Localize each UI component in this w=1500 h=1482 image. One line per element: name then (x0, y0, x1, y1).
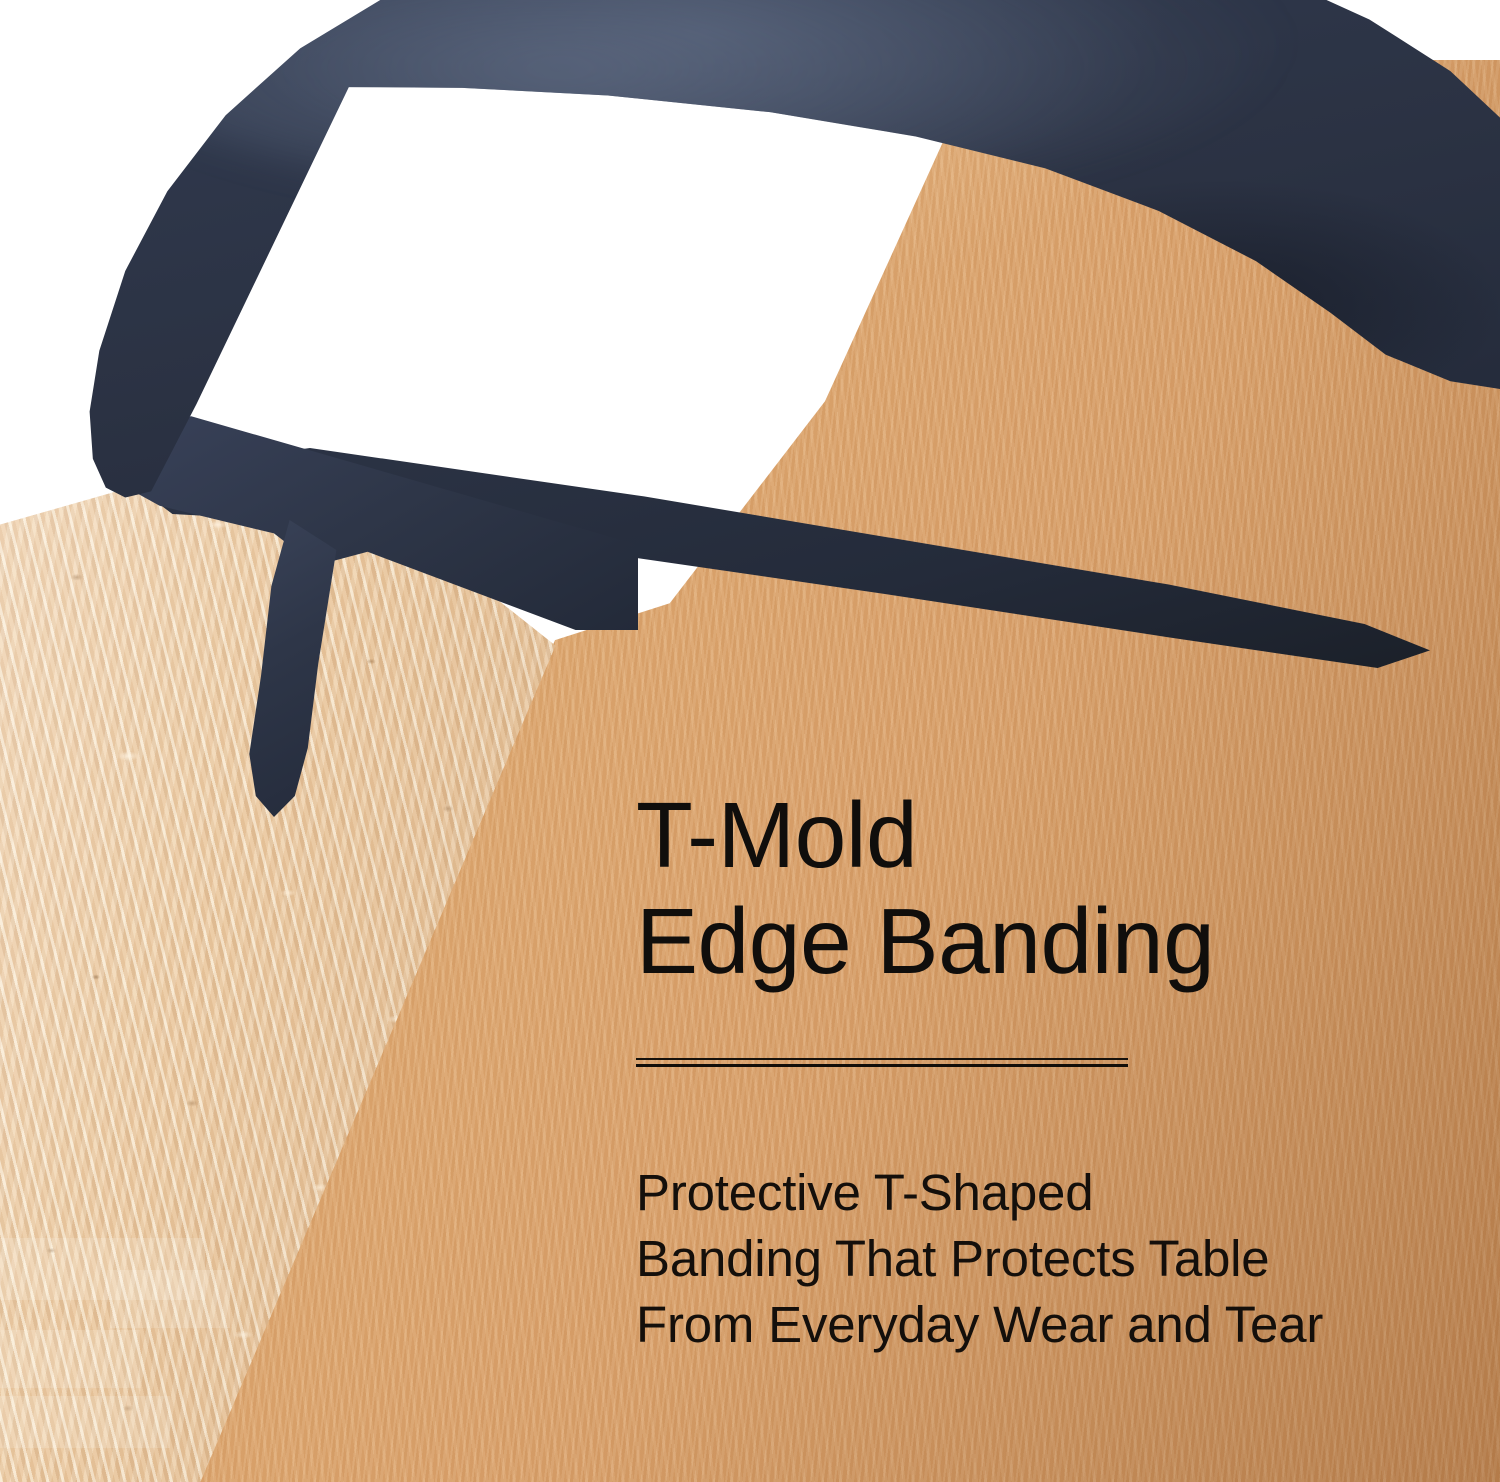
core-overlay-artifact (0, 1396, 170, 1448)
core-overlay-artifact (110, 1270, 230, 1328)
headline-line-2: Edge Banding (636, 888, 1396, 994)
subcopy-line-1: Protective T-Shaped (636, 1160, 1396, 1226)
double-rule-divider (636, 1058, 1128, 1067)
subcopy-line-2: Banding That Protects Table (636, 1226, 1396, 1292)
core-overlay-artifact (0, 1330, 140, 1388)
subcopy-line-3: From Everyday Wear and Tear (636, 1292, 1396, 1358)
headline-line-1: T-Mold (636, 782, 1396, 888)
product-feature-image: T-Mold Edge Banding Protective T-Shaped … (0, 0, 1500, 1482)
page-title: T-Mold Edge Banding (636, 782, 1396, 994)
subcopy-text: Protective T-Shaped Banding That Protect… (636, 1067, 1396, 1358)
marketing-copy-block: T-Mold Edge Banding Protective T-Shaped … (636, 782, 1396, 1358)
